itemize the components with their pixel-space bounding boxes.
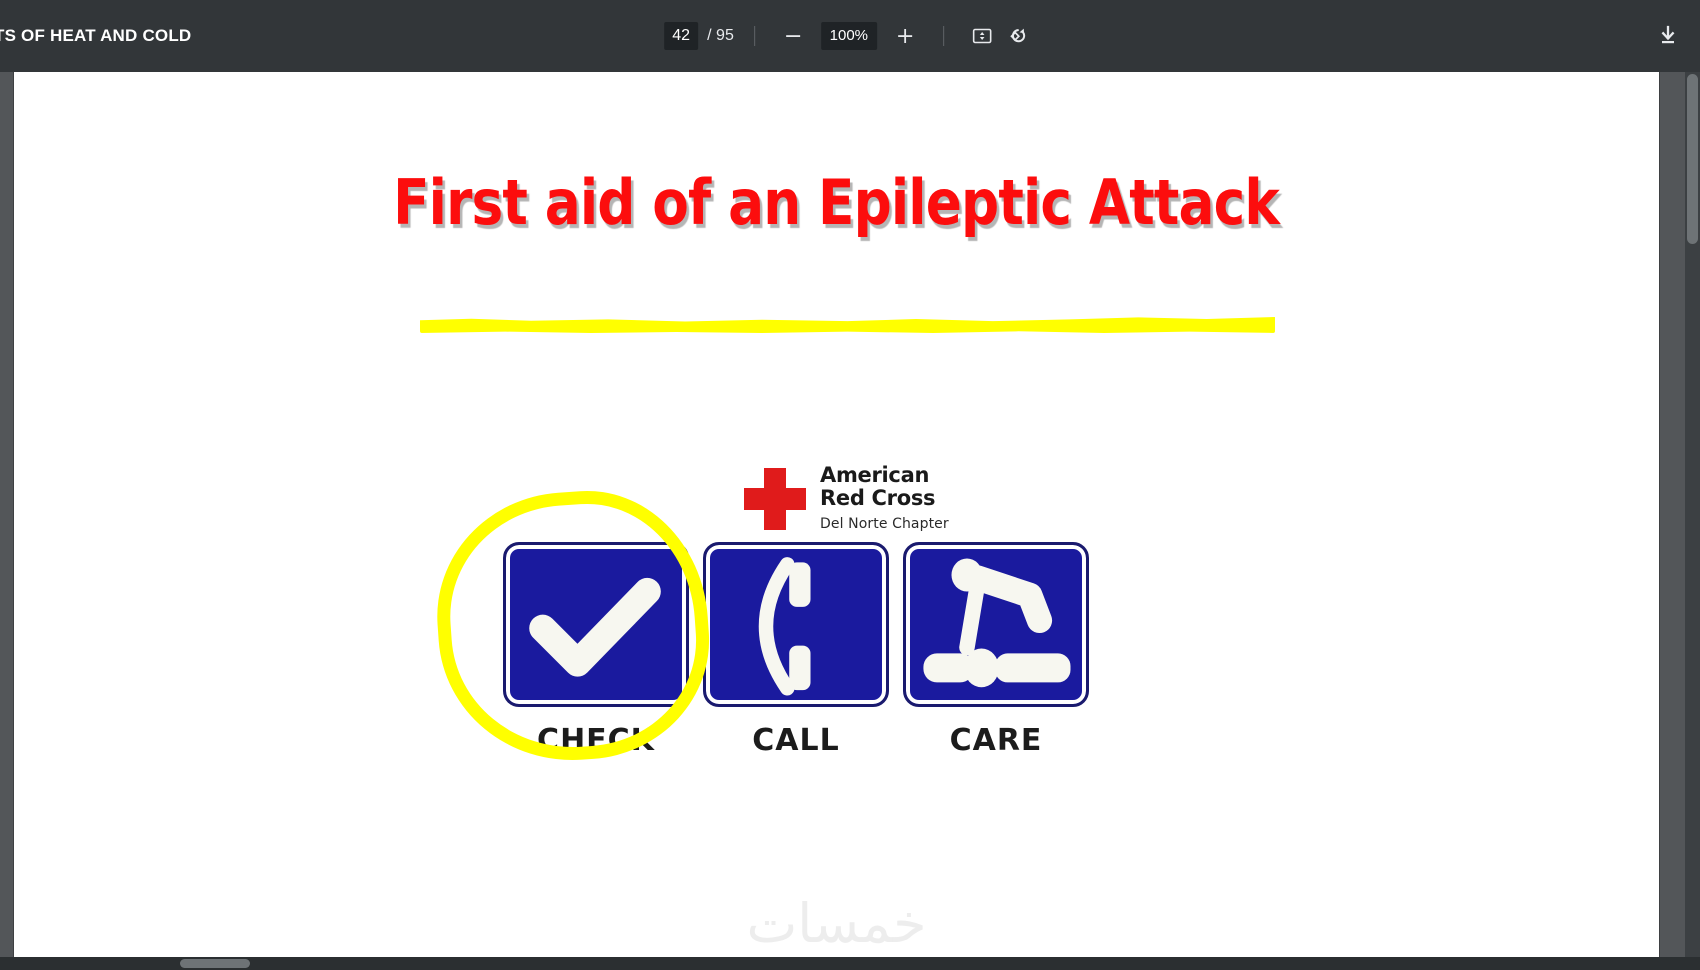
toolbar-divider-2: [943, 26, 944, 46]
rotate-counterclockwise-icon: [1007, 25, 1029, 47]
toolbar-center-controls: 42 / 95 100%: [664, 19, 1036, 53]
fit-to-page-button[interactable]: [964, 19, 1000, 53]
vertical-scrollbar-thumb[interactable]: [1687, 74, 1698, 244]
logo-line-american: American: [820, 464, 949, 487]
logo-text-block: American Red Cross Del Norte Chapter: [820, 464, 949, 532]
panel-check: CHECK: [503, 542, 689, 758]
checkmark-icon: [506, 545, 686, 705]
panel-call: CALL: [703, 542, 889, 758]
panel-check-label: CHECK: [503, 723, 689, 758]
khamsat-watermark: خمسات: [14, 892, 1659, 955]
panel-care: CARE: [903, 542, 1089, 758]
telephone-handset-icon: [706, 545, 886, 705]
page-number-input[interactable]: 42: [664, 22, 698, 50]
panel-call-label: CALL: [703, 723, 889, 758]
vertical-scrollbar[interactable]: [1685, 72, 1700, 970]
zoom-level-input[interactable]: 100%: [821, 22, 877, 50]
rotate-button[interactable]: [1000, 19, 1036, 53]
logo-line-red-cross: Red Cross: [820, 487, 949, 510]
panel-care-tile: [903, 542, 1089, 707]
logo-chapter-label: Del Norte Chapter: [820, 516, 949, 532]
pdf-toolbar: TS OF HEAT AND COLD 42 / 95 100%: [0, 0, 1700, 72]
download-icon: [1656, 24, 1680, 48]
pdf-viewer-area: First aid of an Epileptic Attack America…: [0, 72, 1700, 970]
slide-title-container: First aid of an Epileptic Attack: [14, 172, 1659, 234]
horizontal-scrollbar[interactable]: [0, 957, 1700, 970]
slide-title: First aid of an Epileptic Attack: [394, 172, 1280, 234]
plus-icon: [895, 26, 915, 46]
american-red-cross-logo: American Red Cross Del Norte Chapter: [744, 464, 964, 542]
horizontal-scrollbar-thumb[interactable]: [180, 959, 250, 968]
panel-call-tile: [703, 542, 889, 707]
page-total-label: / 95: [707, 27, 734, 45]
document-title: TS OF HEAT AND COLD: [0, 26, 191, 46]
minus-icon: [783, 26, 803, 46]
panel-check-tile: [503, 542, 689, 707]
cpr-person-icon: [906, 545, 1086, 705]
toolbar-right-controls: [1650, 19, 1686, 53]
check-call-care-panels: CHECK CALL: [503, 542, 1103, 762]
title-highlight-underline: [420, 316, 1275, 333]
panel-care-label: CARE: [903, 723, 1089, 758]
download-button[interactable]: [1650, 19, 1686, 53]
pdf-page: First aid of an Epileptic Attack America…: [14, 72, 1659, 962]
zoom-out-button[interactable]: [775, 19, 811, 53]
zoom-in-button[interactable]: [887, 19, 923, 53]
fit-to-page-icon: [971, 25, 993, 47]
toolbar-divider-1: [754, 26, 755, 46]
red-cross-icon: [744, 468, 806, 530]
